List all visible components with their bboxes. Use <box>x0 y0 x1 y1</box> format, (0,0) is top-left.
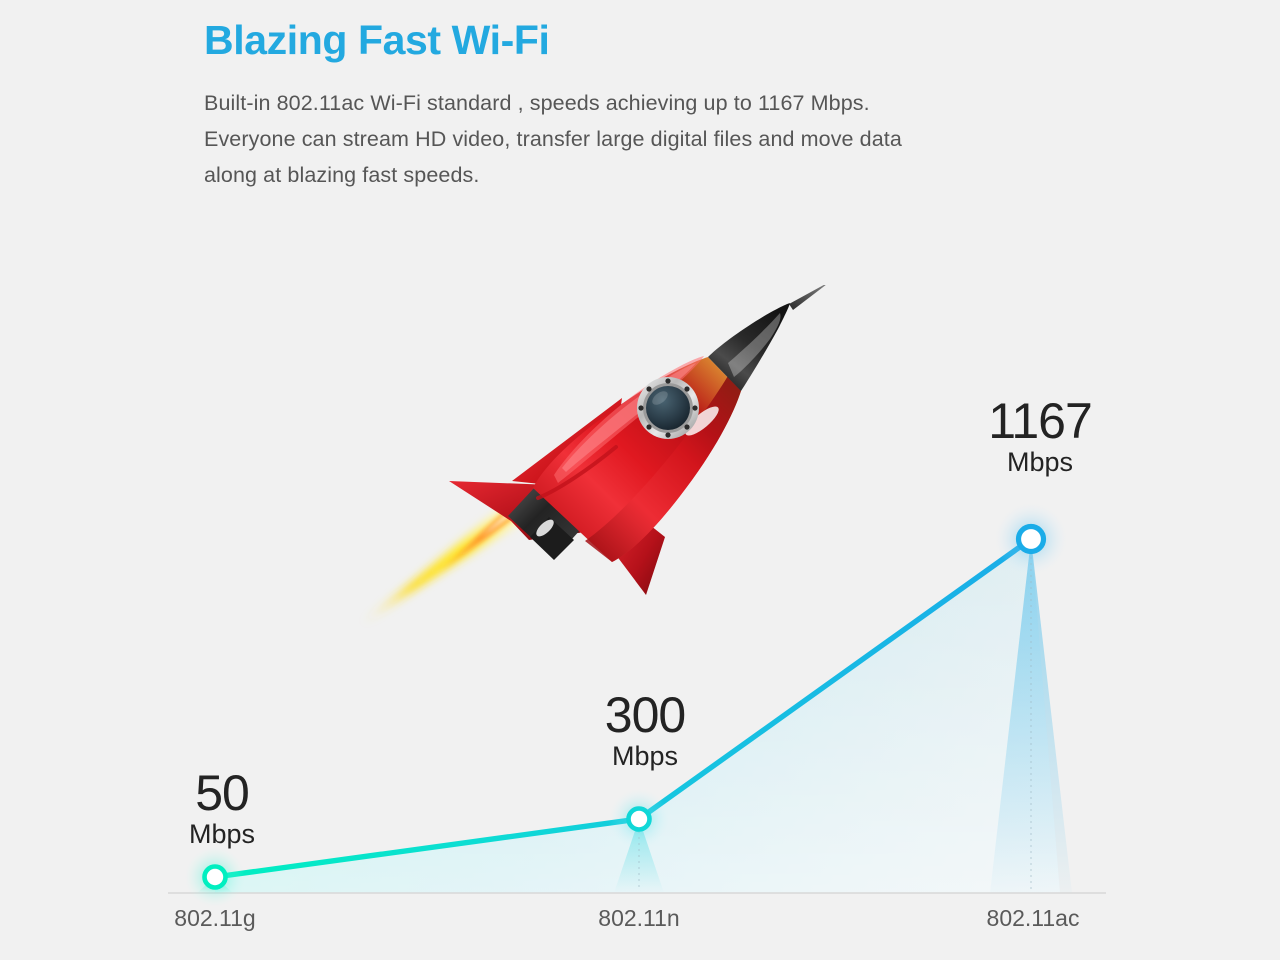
value-label-802-11g: 50 Mbps <box>189 770 255 851</box>
rocket-svg <box>330 285 830 655</box>
axis-label-802-11g: 802.11g <box>174 905 255 932</box>
value-number-802-11n: 300 <box>605 692 685 740</box>
rocket-porthole <box>637 377 699 439</box>
value-unit-802-11n: Mbps <box>605 740 685 774</box>
value-unit-802-11ac: Mbps <box>988 446 1092 480</box>
axis-label-802-11n: 802.11n <box>598 905 679 932</box>
wifi-feature-page: Blazing Fast Wi-Fi Built-in 802.11ac Wi-… <box>0 0 1280 960</box>
value-number-802-11ac: 1167 <box>988 398 1092 446</box>
x-axis-labels: 802.11g 802.11n 802.11ac <box>0 905 1280 955</box>
porthole-glass <box>646 386 690 430</box>
axis-label-802-11ac: 802.11ac <box>987 905 1080 932</box>
value-label-802-11ac: 1167 Mbps <box>988 398 1092 479</box>
rocket-illustration <box>330 285 830 655</box>
value-label-802-11n: 300 Mbps <box>605 692 685 773</box>
rocket-antenna <box>789 285 830 310</box>
value-unit-802-11g: Mbps <box>189 818 255 852</box>
value-number-802-11g: 50 <box>189 770 255 818</box>
